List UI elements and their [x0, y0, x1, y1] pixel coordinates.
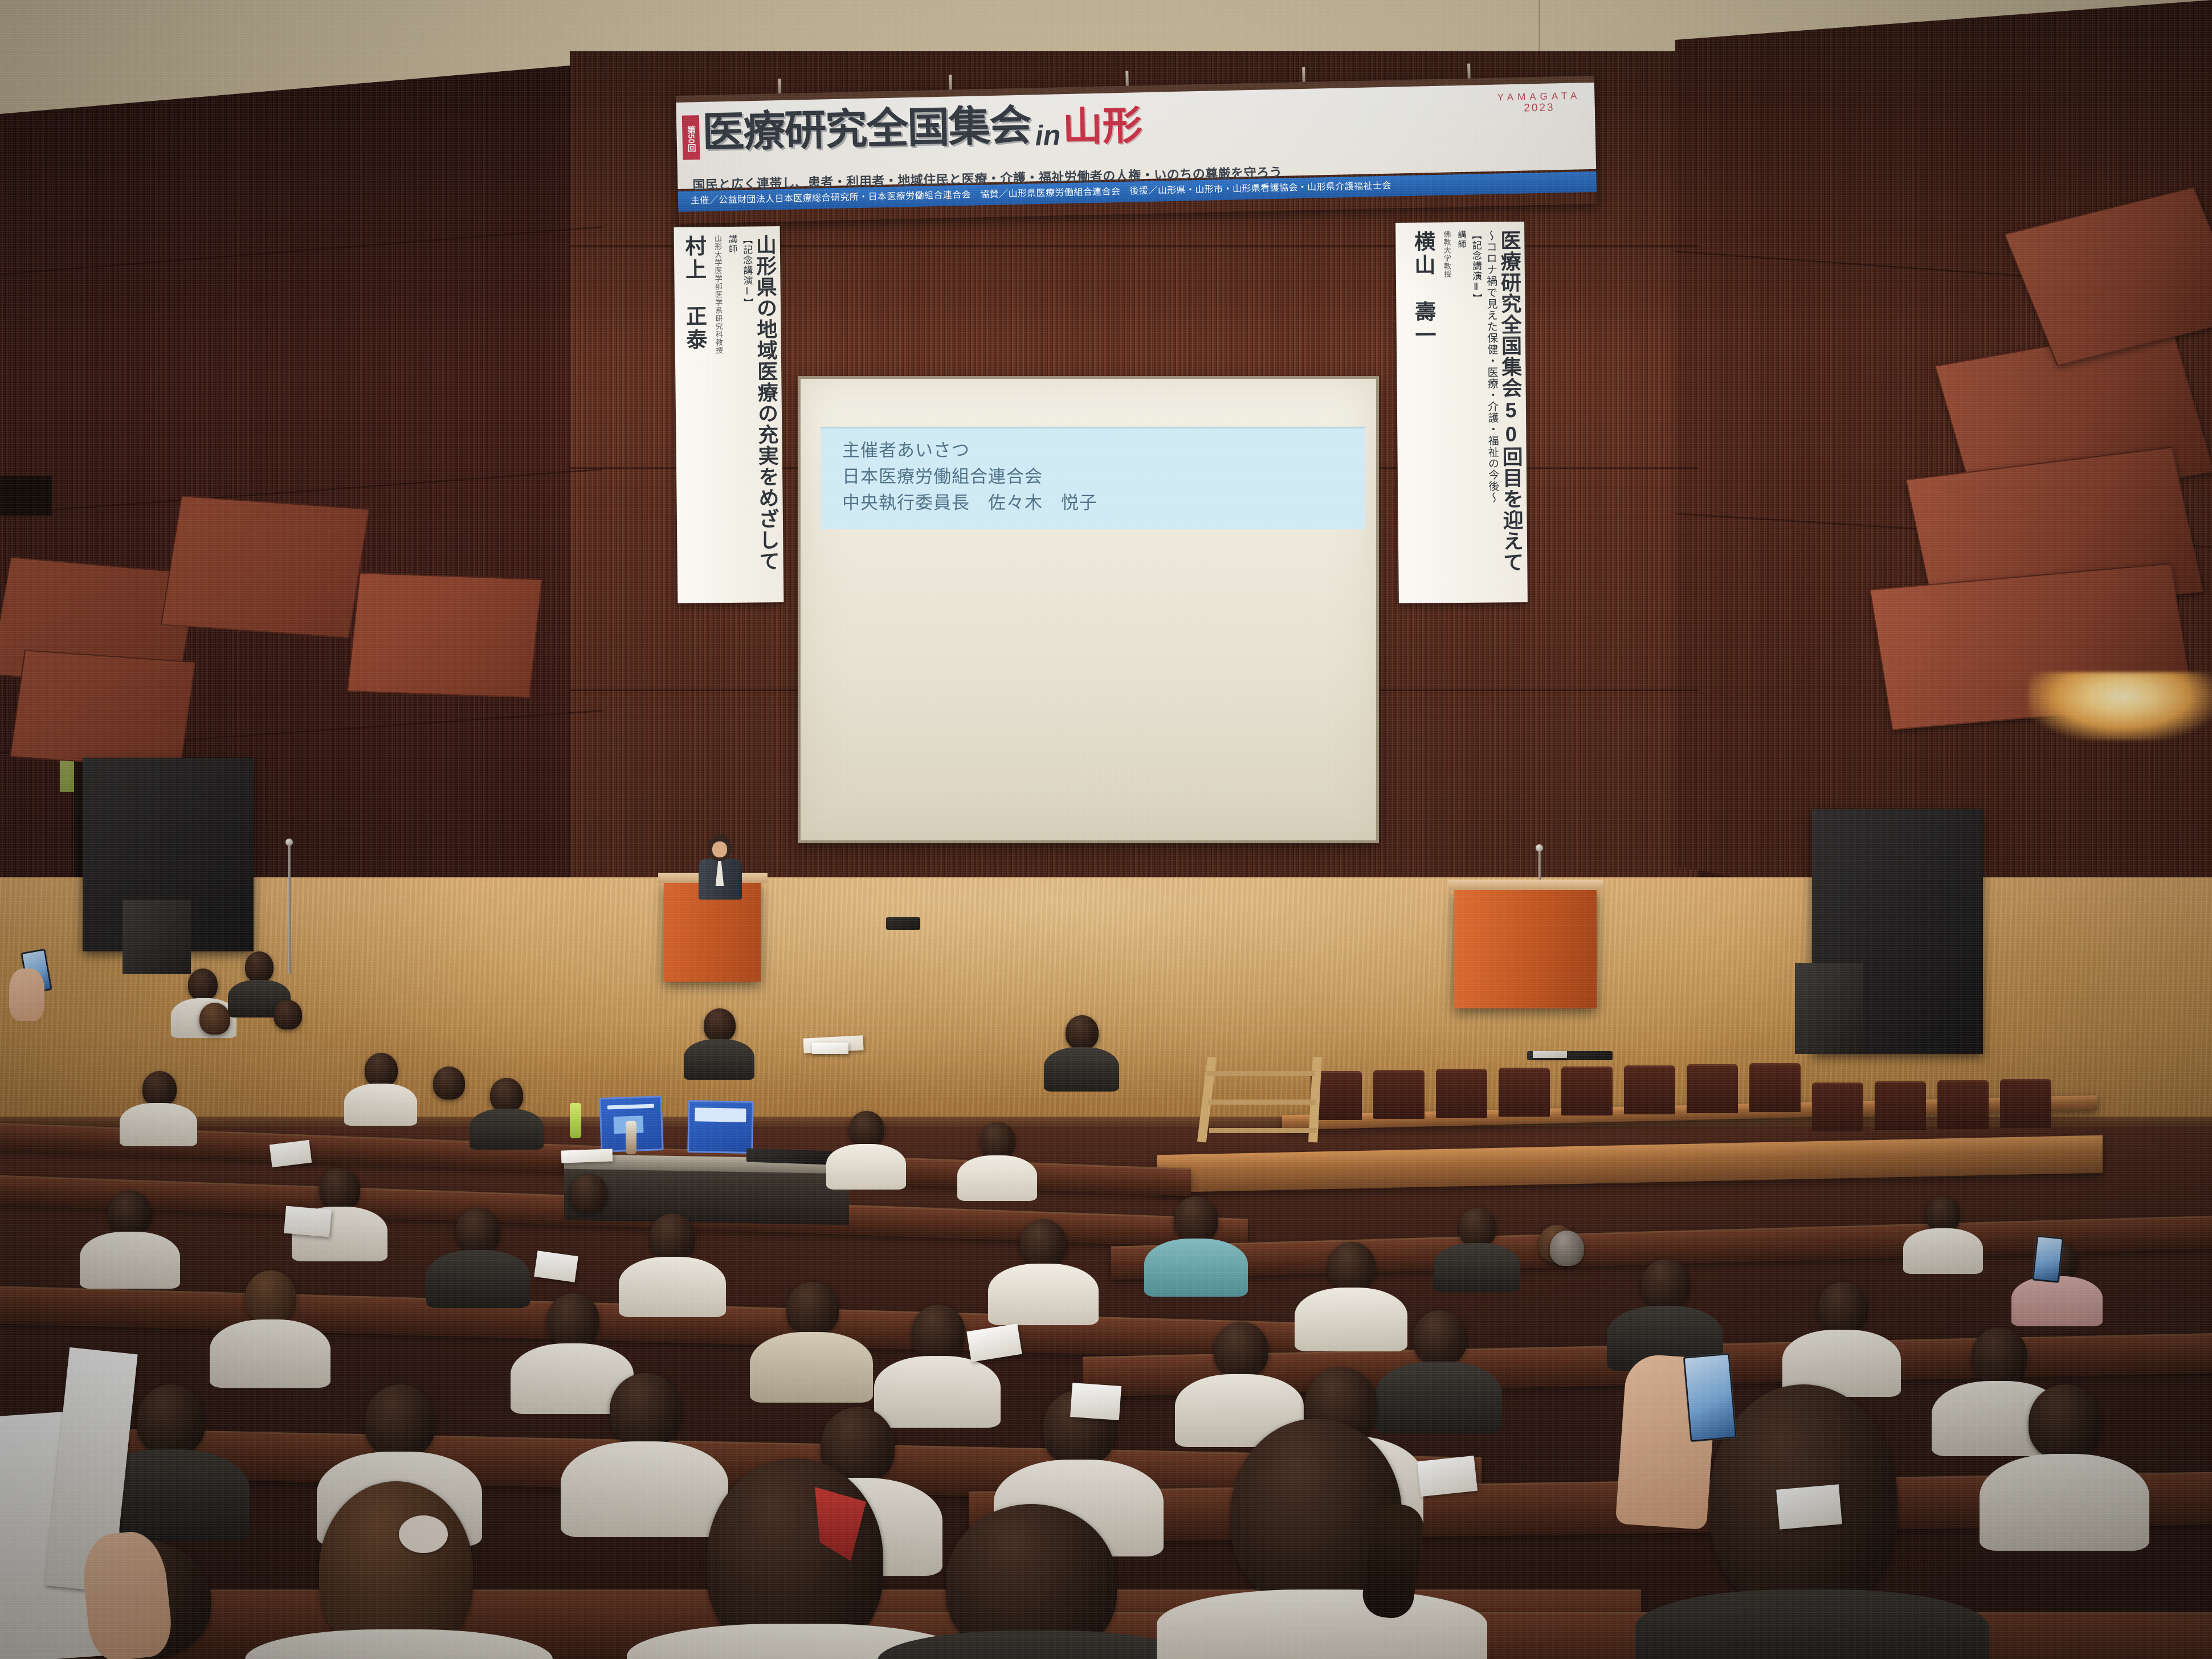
- audience-head: [2029, 1384, 2101, 1460]
- audience-shoulders: [1376, 1362, 1502, 1433]
- presentation-slide: 主催者あいさつ 日本医療労働組合連合会 中央執行委員長 佐々木 悦子: [821, 427, 1365, 529]
- audience-shoulders: [988, 1264, 1099, 1325]
- slide-line-1: 主催者あいさつ: [842, 438, 1365, 464]
- audience-head: [490, 1078, 523, 1112]
- pa-subwoofer-right: [1795, 963, 1863, 1054]
- mic-head-left: [285, 839, 293, 846]
- audience-paper: [284, 1206, 332, 1237]
- audience-head: [365, 1053, 398, 1087]
- secondary-lectern: [1454, 889, 1597, 1008]
- wall-vent: [0, 476, 52, 516]
- audience-shoulders: [1144, 1239, 1248, 1297]
- lecture-right-title: 医療研究全国集会50回目を迎えて: [1498, 230, 1523, 594]
- ladder-step: [1209, 1128, 1317, 1133]
- auditorium-photo: 第50回 医療研究全国集会 in 山形 YAMAGATA 2023 国民と広く連…: [0, 0, 2212, 1659]
- banner-hook: [949, 75, 952, 91]
- audience-paper: [270, 1140, 312, 1167]
- foreground-shoulders: [1635, 1589, 1989, 1659]
- audience-head: [433, 1066, 465, 1100]
- audience-head: [142, 1071, 177, 1106]
- banner-in-word: in: [1035, 118, 1061, 152]
- audience-shoulders: [344, 1084, 417, 1126]
- stage-floor-monitor: [886, 917, 920, 930]
- hand-holding-phone: [9, 969, 44, 1021]
- audience-head: [245, 1270, 296, 1323]
- empty-seat: [1687, 1064, 1738, 1113]
- empty-seat: [1812, 1082, 1863, 1131]
- empty-seat: [1373, 1070, 1425, 1119]
- audience-shoulders: [120, 1103, 197, 1146]
- empty-seat: [1749, 1063, 1801, 1112]
- audience-head: [786, 1282, 839, 1335]
- audience-head: [704, 1008, 736, 1041]
- main-banner: 第50回 医療研究全国集会 in 山形 YAMAGATA 2023 国民と広く連…: [676, 76, 1597, 224]
- audience-head: [610, 1373, 681, 1447]
- speaker-face: [712, 841, 727, 857]
- audience-head: [1926, 1196, 1960, 1232]
- audience-shoulders: [684, 1039, 754, 1080]
- empty-seat: [1436, 1069, 1487, 1118]
- foreground-shoulders: [1157, 1589, 1487, 1659]
- lecture-left-affiliation: 山形大学医学部医学系研究科教授: [712, 235, 727, 595]
- slide-line-3: 中央執行委員長 佐々木 悦子: [842, 490, 1365, 516]
- audience-paper: [1070, 1383, 1121, 1420]
- audience-shoulders: [826, 1144, 906, 1190]
- audience-head: [1174, 1196, 1218, 1242]
- stage-paper: [1533, 1051, 1567, 1058]
- empty-seat: [1875, 1081, 1926, 1130]
- audience-head: [1818, 1282, 1868, 1333]
- anniversary-badge: 第50回: [682, 115, 700, 160]
- banner-hook: [1302, 67, 1305, 83]
- audience-shoulders: [957, 1155, 1037, 1201]
- lecture-right-head: 【記念講演Ⅱ】: [1468, 230, 1483, 304]
- audience-head: [1066, 1015, 1099, 1049]
- lecture-right-affiliation: 佛教大学教授: [1441, 230, 1455, 595]
- mic-stand-left: [288, 843, 291, 974]
- audience-head: [1413, 1310, 1467, 1365]
- lecture-banner-right: 医療研究全国集会50回目を迎えて ～コロナ禍で見えた保健・医療・介護・福祉の今後…: [1395, 222, 1528, 603]
- audience-head: [274, 1000, 302, 1029]
- banner-title: 医療研究全国集会: [702, 104, 1031, 154]
- audience-paper: [534, 1251, 578, 1282]
- lecture-left-head: 【記念講演Ⅰ】: [740, 235, 754, 308]
- audience-shoulders: [470, 1109, 544, 1150]
- audience-head: [650, 1213, 695, 1260]
- slide-line-2: 日本医療労働組合連合会: [842, 464, 1365, 490]
- drink-cup: [626, 1121, 636, 1154]
- banner-year: 2023: [1497, 101, 1581, 115]
- audience-head: [1214, 1322, 1268, 1378]
- audience-head: [365, 1384, 435, 1457]
- ladder-step: [1207, 1071, 1315, 1076]
- audience-head: [456, 1208, 500, 1253]
- projection-screen: 主催者あいさつ 日本医療労働組合連合会 中央執行委員長 佐々木 悦子: [798, 376, 1379, 843]
- audience-head: [912, 1305, 965, 1359]
- audience-head: [849, 1111, 884, 1147]
- laptop-right[interactable]: [687, 1100, 754, 1154]
- mic-head-right: [1536, 844, 1543, 852]
- audience-head: [1972, 1327, 2027, 1384]
- audience-shoulders: [426, 1250, 530, 1308]
- empty-seat: [1937, 1080, 1989, 1129]
- audience-head: [137, 1384, 205, 1455]
- banner-location-romaji: YAMAGATA 2023: [1497, 91, 1582, 115]
- audience-shoulders: [210, 1319, 330, 1388]
- audience-head: [1550, 1231, 1584, 1266]
- audience-shoulders: [750, 1332, 873, 1403]
- empty-seat: [1624, 1065, 1675, 1114]
- phone-screen: [2034, 1237, 2062, 1281]
- audience-shoulders: [1980, 1454, 2149, 1551]
- lectern-top: [1448, 880, 1603, 890]
- audience-shoulders: [1044, 1047, 1119, 1092]
- lecture-banner-left: 山形県の地域医療の充実をめざして 【記念講演Ⅰ】 講師 山形大学医学部医学系研究…: [674, 226, 784, 603]
- audience-paper: [1417, 1456, 1478, 1497]
- audience-head: [1020, 1219, 1067, 1267]
- green-bottle: [570, 1103, 581, 1138]
- audience-head: [570, 1174, 607, 1212]
- ladder-step: [1208, 1100, 1316, 1105]
- audience-shoulders: [1903, 1228, 1983, 1274]
- lecture-left-title: 山形県の地域医療の充実をめざして: [754, 234, 779, 594]
- audience-head: [319, 1168, 360, 1210]
- pa-subwoofer-left: [123, 900, 191, 974]
- audience-shoulders: [561, 1441, 728, 1537]
- empty-seat: [1499, 1068, 1550, 1117]
- audience-head: [980, 1122, 1015, 1159]
- audience-head: [1459, 1208, 1496, 1247]
- laptop-titlebar: [695, 1108, 746, 1122]
- phone-screen: [1685, 1355, 1735, 1440]
- audience-head: [199, 1003, 230, 1035]
- lecture-right-speaker-name: 横山 壽一: [1407, 230, 1441, 595]
- wall-lamp: [2029, 672, 2212, 741]
- banner-location: 山形: [1062, 105, 1142, 147]
- audience-shoulders: [80, 1232, 180, 1289]
- hair-scrunchie: [399, 1515, 448, 1553]
- banner-hook: [1467, 64, 1471, 80]
- banner-hook: [778, 79, 781, 95]
- audience-head: [245, 951, 274, 982]
- empty-seat: [1561, 1066, 1613, 1115]
- desk-paper: [561, 1149, 613, 1163]
- audience-shoulders: [874, 1356, 1001, 1428]
- acoustic-panel: [10, 649, 195, 769]
- audience-head: [547, 1293, 599, 1347]
- acoustic-panel: [347, 573, 542, 698]
- audience-shoulders: [619, 1257, 726, 1317]
- banner-hook: [1125, 71, 1129, 87]
- audience-head: [108, 1191, 152, 1235]
- smartphone[interactable]: [2032, 1235, 2064, 1284]
- smartphone[interactable]: [1683, 1353, 1737, 1443]
- audience-shoulders: [2011, 1276, 2103, 1326]
- speaker-at-podium: [696, 835, 743, 897]
- audience-head: [1641, 1259, 1690, 1309]
- audience-head: [1328, 1242, 1376, 1291]
- audience-paper: [812, 1043, 848, 1054]
- audience-shoulders: [1295, 1288, 1407, 1351]
- lecture-left-speaker-name: 村上 正泰: [678, 235, 713, 595]
- audience-head: [188, 969, 218, 1000]
- acoustic-panel: [161, 496, 369, 638]
- audience-shoulders: [1434, 1243, 1520, 1292]
- audience-paper: [1776, 1484, 1842, 1529]
- empty-seat: [2000, 1079, 2051, 1128]
